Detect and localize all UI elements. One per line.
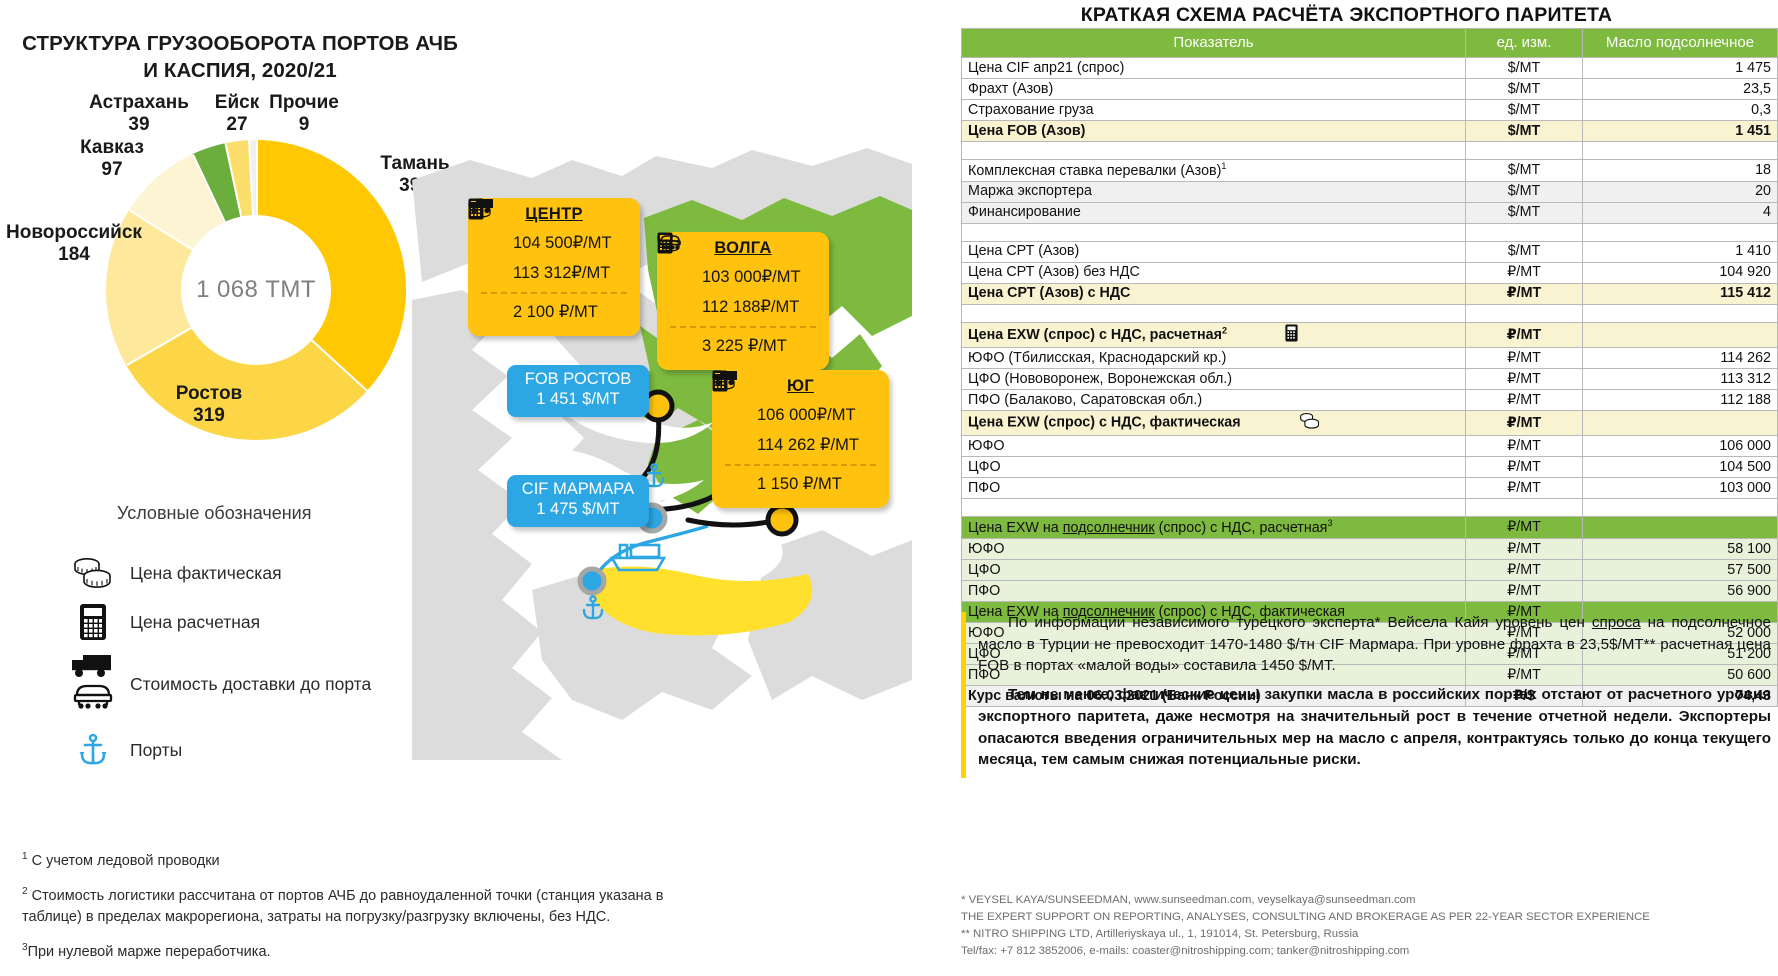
donut-hole: 1 068 ТМТ: [181, 215, 331, 365]
callout-centre-row-truck: 2 100 ₽/МТ: [479, 297, 629, 327]
source-line-4: Tel/fax: +7 812 3852006, e-mails: coaste…: [961, 943, 1761, 960]
table-row: ЦФО₽/MT104 500: [962, 457, 1778, 478]
row-indicator: ЦФО: [962, 457, 1466, 478]
legend-label-actual-price: Цена фактическая: [130, 563, 282, 584]
callout-volga-row-calc: 112 188₽/МТ: [668, 292, 818, 322]
row-indicator: Цена СРТ (Азов) без НДС: [962, 262, 1466, 283]
row-value: 106 000: [1583, 436, 1778, 457]
table-row: ЮФО₽/MT106 000: [962, 436, 1778, 457]
callout-yug-row-truck: 1 150 ₽/МТ: [723, 469, 878, 499]
callout-centre-row-actual: 104 500₽/МТ: [479, 228, 629, 258]
row-value: [1583, 322, 1778, 348]
table-row: Страхование груза$/MT0,3: [962, 100, 1778, 121]
parity-table-title: КРАТКАЯ СХЕМА РАСЧЁТА ЭКСПОРТНОГО ПАРИТЕ…: [915, 4, 1778, 27]
source-line-3: ** NITRO SHIPPING LTD, Artilleriyskaya u…: [961, 926, 1761, 943]
coins-icon: [70, 553, 116, 593]
footnote-2: 2 Стоимость логистики рассчитана от порт…: [22, 885, 722, 928]
row-value: 57 500: [1583, 559, 1778, 580]
donut-label-rostov: Ростов 319: [149, 383, 269, 428]
callout-centre[interactable]: ЦЕНТР 104 500₽/МТ: [468, 198, 640, 336]
row-value: 58 100: [1583, 538, 1778, 559]
spacer-cell: [962, 142, 1466, 160]
donut-label-novorossiysk: Новороссийск 184: [0, 222, 148, 267]
row-value: 114 262: [1583, 348, 1778, 369]
slide-root: СТРУКТУРА ГРУЗООБОРОТА ПОРТОВ АЧБ И КАСП…: [0, 0, 1778, 967]
row-indicator: ПФО: [962, 580, 1466, 601]
callout-yug-truck-value: 1 150 ₽/МТ: [757, 474, 842, 494]
coins-icon: [1299, 412, 1321, 434]
coins-icon: [668, 265, 694, 289]
table-row: Цена СРТ (Азов)$/MT1 410: [962, 241, 1778, 262]
legend-label-ports: Порты: [130, 740, 182, 761]
table-row: ЦФО₽/MT57 500: [962, 559, 1778, 580]
row-unit: ₽/MT: [1466, 283, 1583, 304]
spacer-cell: [962, 499, 1466, 517]
row-value: 1 410: [1583, 241, 1778, 262]
table-row: ПФО₽/MT103 000: [962, 478, 1778, 499]
table-row: Цена СРТ (Азов) с НДС₽/MT115 412: [962, 283, 1778, 304]
table-row: Цена CIF апр21 (спрос)$/MT1 475: [962, 58, 1778, 79]
row-value: 113 312: [1583, 369, 1778, 390]
row-unit: $/MT: [1466, 202, 1583, 223]
calculator-icon: [668, 295, 694, 319]
commentary-paragraph-2: Тем не менее, фактические цены закупки м…: [978, 684, 1771, 771]
label-fob-rostov-title: FOB РОСТОВ: [519, 370, 637, 390]
row-unit: $/MT: [1466, 100, 1583, 121]
table-spacer-row: [962, 304, 1778, 322]
legend-item-delivery-cost: Стоимость доставки до порта: [70, 650, 371, 718]
header-unit: ед. изм.: [1466, 29, 1583, 58]
row-value: 112 188: [1583, 390, 1778, 411]
donut-center-total: 1 068 ТМТ: [196, 276, 316, 304]
donut-label-kavkaz: Кавказ 97: [58, 137, 166, 182]
row-unit: ₽/MT: [1466, 369, 1583, 390]
callout-centre-truck-value: 2 100 ₽/МТ: [513, 302, 598, 322]
callout-yug-divider: [725, 464, 876, 466]
row-unit: ₽/MT: [1466, 411, 1583, 436]
callout-yug-title: ЮГ: [723, 377, 878, 396]
anchor-icon: [70, 730, 116, 770]
row-unit: ₽/MT: [1466, 538, 1583, 559]
row-unit: ₽/MT: [1466, 517, 1583, 539]
row-indicator: Финансирование: [962, 202, 1466, 223]
row-indicator: Фрахт (Азов): [962, 79, 1466, 100]
callout-centre-actual-value: 104 500₽/МТ: [513, 233, 612, 253]
calculator-icon: [479, 261, 505, 285]
truck-railcar-icon: [70, 650, 116, 718]
map-panel: ЦЕНТР 104 500₽/МТ: [412, 120, 912, 760]
row-indicator: Цена СРТ (Азов) с НДС: [962, 283, 1466, 304]
footnotes: 1 С учетом ледовой проводки 2 Стоимость …: [22, 850, 722, 976]
row-value: 0,3: [1583, 100, 1778, 121]
row-unit: ₽/MT: [1466, 559, 1583, 580]
source-line-1: * VEYSEL KAYA/SUNSEEDMAN, www.sunseedman…: [961, 892, 1761, 909]
callout-centre-divider: [481, 292, 627, 294]
callout-volga-title: ВОЛГА: [668, 239, 818, 258]
callout-centre-title: ЦЕНТР: [479, 205, 629, 224]
row-unit: ₽/MT: [1466, 322, 1583, 348]
spacer-cell: [1466, 223, 1583, 241]
spacer-cell: [1583, 223, 1778, 241]
legend-item-ports: Порты: [70, 730, 182, 770]
row-unit: $/MT: [1466, 121, 1583, 142]
table-row: ЦФО (Нововоронеж, Воронежская обл.)₽/MT1…: [962, 369, 1778, 390]
coins-icon: [723, 403, 749, 427]
label-cif-marmara-title: CIF МАРМАРА: [519, 480, 637, 500]
row-indicator: ПФО: [962, 478, 1466, 499]
callout-volga-railcar-value: 3 225 ₽/МТ: [702, 336, 787, 356]
railcar-icon: [668, 334, 694, 358]
table-header-row: Показатель ед. изм. Масло подсолнечное: [962, 29, 1778, 58]
row-indicator: ЮФО: [962, 538, 1466, 559]
header-product: Масло подсолнечное: [1583, 29, 1778, 58]
row-value: 103 000: [1583, 478, 1778, 499]
row-unit: $/MT: [1466, 58, 1583, 79]
table-spacer-row: [962, 499, 1778, 517]
table-row: Цена СРТ (Азов) без НДС₽/MT104 920: [962, 262, 1778, 283]
callout-volga-divider: [670, 326, 816, 328]
row-unit: ₽/MT: [1466, 348, 1583, 369]
table-row: Цена FOB (Азов)$/MT1 451: [962, 121, 1778, 142]
header-indicator: Показатель: [962, 29, 1466, 58]
table-row: ПФО₽/MT56 900: [962, 580, 1778, 601]
row-value: [1583, 517, 1778, 539]
label-fob-rostov[interactable]: FOB РОСТОВ 1 451 $/MT: [507, 365, 649, 417]
callout-centre-row-calc: 113 312₽/МТ: [479, 258, 629, 288]
table-spacer-row: [962, 142, 1778, 160]
row-unit: ₽/MT: [1466, 436, 1583, 457]
label-fob-rostov-value: 1 451 $/MT: [519, 390, 637, 410]
legend-label-calculated-price: Цена расчетная: [130, 612, 260, 633]
commentary-underlined-term: спроса: [1592, 614, 1641, 631]
row-value: 1 451: [1583, 121, 1778, 142]
row-unit: $/MT: [1466, 181, 1583, 202]
row-value: 56 900: [1583, 580, 1778, 601]
sources-block: * VEYSEL KAYA/SUNSEEDMAN, www.sunseedman…: [961, 892, 1761, 960]
commentary-note: По информации независимого турецкого экс…: [961, 612, 1771, 778]
spacer-cell: [1466, 142, 1583, 160]
spacer-cell: [1466, 499, 1583, 517]
table-row: ЮФО (Тбилисская, Краснодарский кр.)₽/MT1…: [962, 348, 1778, 369]
row-indicator: Цена EXW на подсолнечник (спрос) с НДС, …: [962, 517, 1466, 539]
source-line-2: THE EXPERT SUPPORT ON REPORTING, ANALYSE…: [961, 909, 1761, 926]
label-cif-marmara-value: 1 475 $/MT: [519, 500, 637, 520]
footnote-3: 3При нулевой марже переработчика.: [22, 941, 722, 963]
callout-volga-calc-value: 112 188₽/МТ: [702, 297, 799, 317]
row-indicator: Цена EXW (спрос) с НДС, расчетная2: [962, 322, 1466, 348]
legend-title: Условные обозначения: [117, 503, 311, 524]
row-value: [1583, 411, 1778, 436]
calculator-icon: [70, 602, 116, 642]
callout-volga-row-railcar: 3 225 ₽/МТ: [668, 331, 818, 361]
donut-label-astrakhan: Астрахань 39: [74, 92, 204, 137]
row-value: 1 475: [1583, 58, 1778, 79]
table-row: Цена EXW (спрос) с НДС, расчетная2₽/MT: [962, 322, 1778, 348]
spacer-cell: [1583, 142, 1778, 160]
row-unit: ₽/MT: [1466, 262, 1583, 283]
callout-yug-row-actual: 106 000₽/МТ: [723, 400, 878, 430]
row-value: 4: [1583, 202, 1778, 223]
row-unit: ₽/MT: [1466, 457, 1583, 478]
row-unit: $/MT: [1466, 160, 1583, 182]
callout-volga-row-actual: 103 000₽/МТ: [668, 262, 818, 292]
row-indicator: Цена СРТ (Азов): [962, 241, 1466, 262]
calculator-icon: [1285, 324, 1298, 347]
row-indicator: ЦФО: [962, 559, 1466, 580]
row-value: 18: [1583, 160, 1778, 182]
row-indicator: Страхование груза: [962, 100, 1466, 121]
row-indicator: ЮФО (Тбилисская, Краснодарский кр.): [962, 348, 1466, 369]
row-value: 104 500: [1583, 457, 1778, 478]
table-spacer-row: [962, 223, 1778, 241]
table-row: Маржа экспортера$/MT20: [962, 181, 1778, 202]
legend-item-actual-price: Цена фактическая: [70, 553, 282, 593]
row-unit: ₽/MT: [1466, 390, 1583, 411]
footnote-1: 1 С учетом ледовой проводки: [22, 850, 722, 872]
callout-centre-calc-value: 113 312₽/МТ: [513, 263, 610, 283]
export-parity-table: Показатель ед. изм. Масло подсолнечное Ц…: [961, 28, 1778, 707]
callout-yug[interactable]: ЮГ 106 000₽/МТ: [712, 370, 889, 508]
callout-volga[interactable]: ВОЛГА 103 000₽/МТ: [657, 232, 829, 370]
commentary-paragraph-1: По информации независимого турецкого экс…: [978, 612, 1771, 677]
row-unit: $/MT: [1466, 241, 1583, 262]
table-row: Фрахт (Азов)$/MT23,5: [962, 79, 1778, 100]
table-row: Цена EXW (спрос) с НДС, фактическая₽/MT: [962, 411, 1778, 436]
row-indicator: ПФО (Балаково, Саратовская обл.): [962, 390, 1466, 411]
legend-label-delivery-cost: Стоимость доставки до порта: [130, 674, 371, 695]
callout-volga-actual-value: 103 000₽/МТ: [702, 267, 801, 287]
spacer-cell: [1583, 304, 1778, 322]
row-unit: $/MT: [1466, 79, 1583, 100]
table-row: Цена EXW на подсолнечник (спрос) с НДС, …: [962, 517, 1778, 539]
spacer-cell: [1583, 499, 1778, 517]
row-value: 104 920: [1583, 262, 1778, 283]
row-unit: ₽/MT: [1466, 580, 1583, 601]
label-cif-marmara[interactable]: CIF МАРМАРА 1 475 $/MT: [507, 475, 649, 527]
table-row: ПФО (Балаково, Саратовская обл.)₽/MT112 …: [962, 390, 1778, 411]
table-row: Комплексная ставка перевалки (Азов)1$/MT…: [962, 160, 1778, 182]
spacer-cell: [1466, 304, 1583, 322]
row-value: 23,5: [1583, 79, 1778, 100]
row-indicator: ЦФО (Нововоронеж, Воронежская обл.): [962, 369, 1466, 390]
calculator-icon: [723, 433, 749, 457]
row-indicator: ЮФО: [962, 436, 1466, 457]
row-indicator: Цена CIF апр21 (спрос): [962, 58, 1466, 79]
callout-yug-row-calc: 114 262 ₽/МТ: [723, 430, 878, 460]
right-panel: КРАТКАЯ СХЕМА РАСЧЁТА ЭКСПОРТНОГО ПАРИТЕ…: [915, 0, 1778, 967]
row-value: 20: [1583, 181, 1778, 202]
row-unit: ₽/MT: [1466, 478, 1583, 499]
row-indicator: Цена FOB (Азов): [962, 121, 1466, 142]
row-value: 115 412: [1583, 283, 1778, 304]
row-indicator: Маржа экспортера: [962, 181, 1466, 202]
row-indicator: Комплексная ставка перевалки (Азов)1: [962, 160, 1466, 182]
donut-label-eysk: Ейск 27: [206, 92, 268, 137]
coins-icon: [479, 231, 505, 255]
donut-label-other: Прочие 9: [264, 92, 344, 137]
table-row: Финансирование$/MT4: [962, 202, 1778, 223]
donut-chart-title: СТРУКТУРА ГРУЗООБОРОТА ПОРТОВ АЧБ И КАСП…: [20, 30, 460, 84]
truck-icon: [723, 472, 749, 496]
table-body: Цена CIF апр21 (спрос)$/MT1 475Фрахт (Аз…: [962, 58, 1778, 707]
spacer-cell: [962, 223, 1466, 241]
callout-yug-calc-value: 114 262 ₽/МТ: [757, 435, 859, 455]
truck-icon: [479, 300, 505, 324]
row-indicator: Цена EXW (спрос) с НДС, фактическая: [962, 411, 1466, 436]
spacer-cell: [962, 304, 1466, 322]
legend-item-calculated-price: Цена расчетная: [70, 602, 260, 642]
table-row: ЮФО₽/MT58 100: [962, 538, 1778, 559]
callout-yug-actual-value: 106 000₽/МТ: [757, 405, 856, 425]
